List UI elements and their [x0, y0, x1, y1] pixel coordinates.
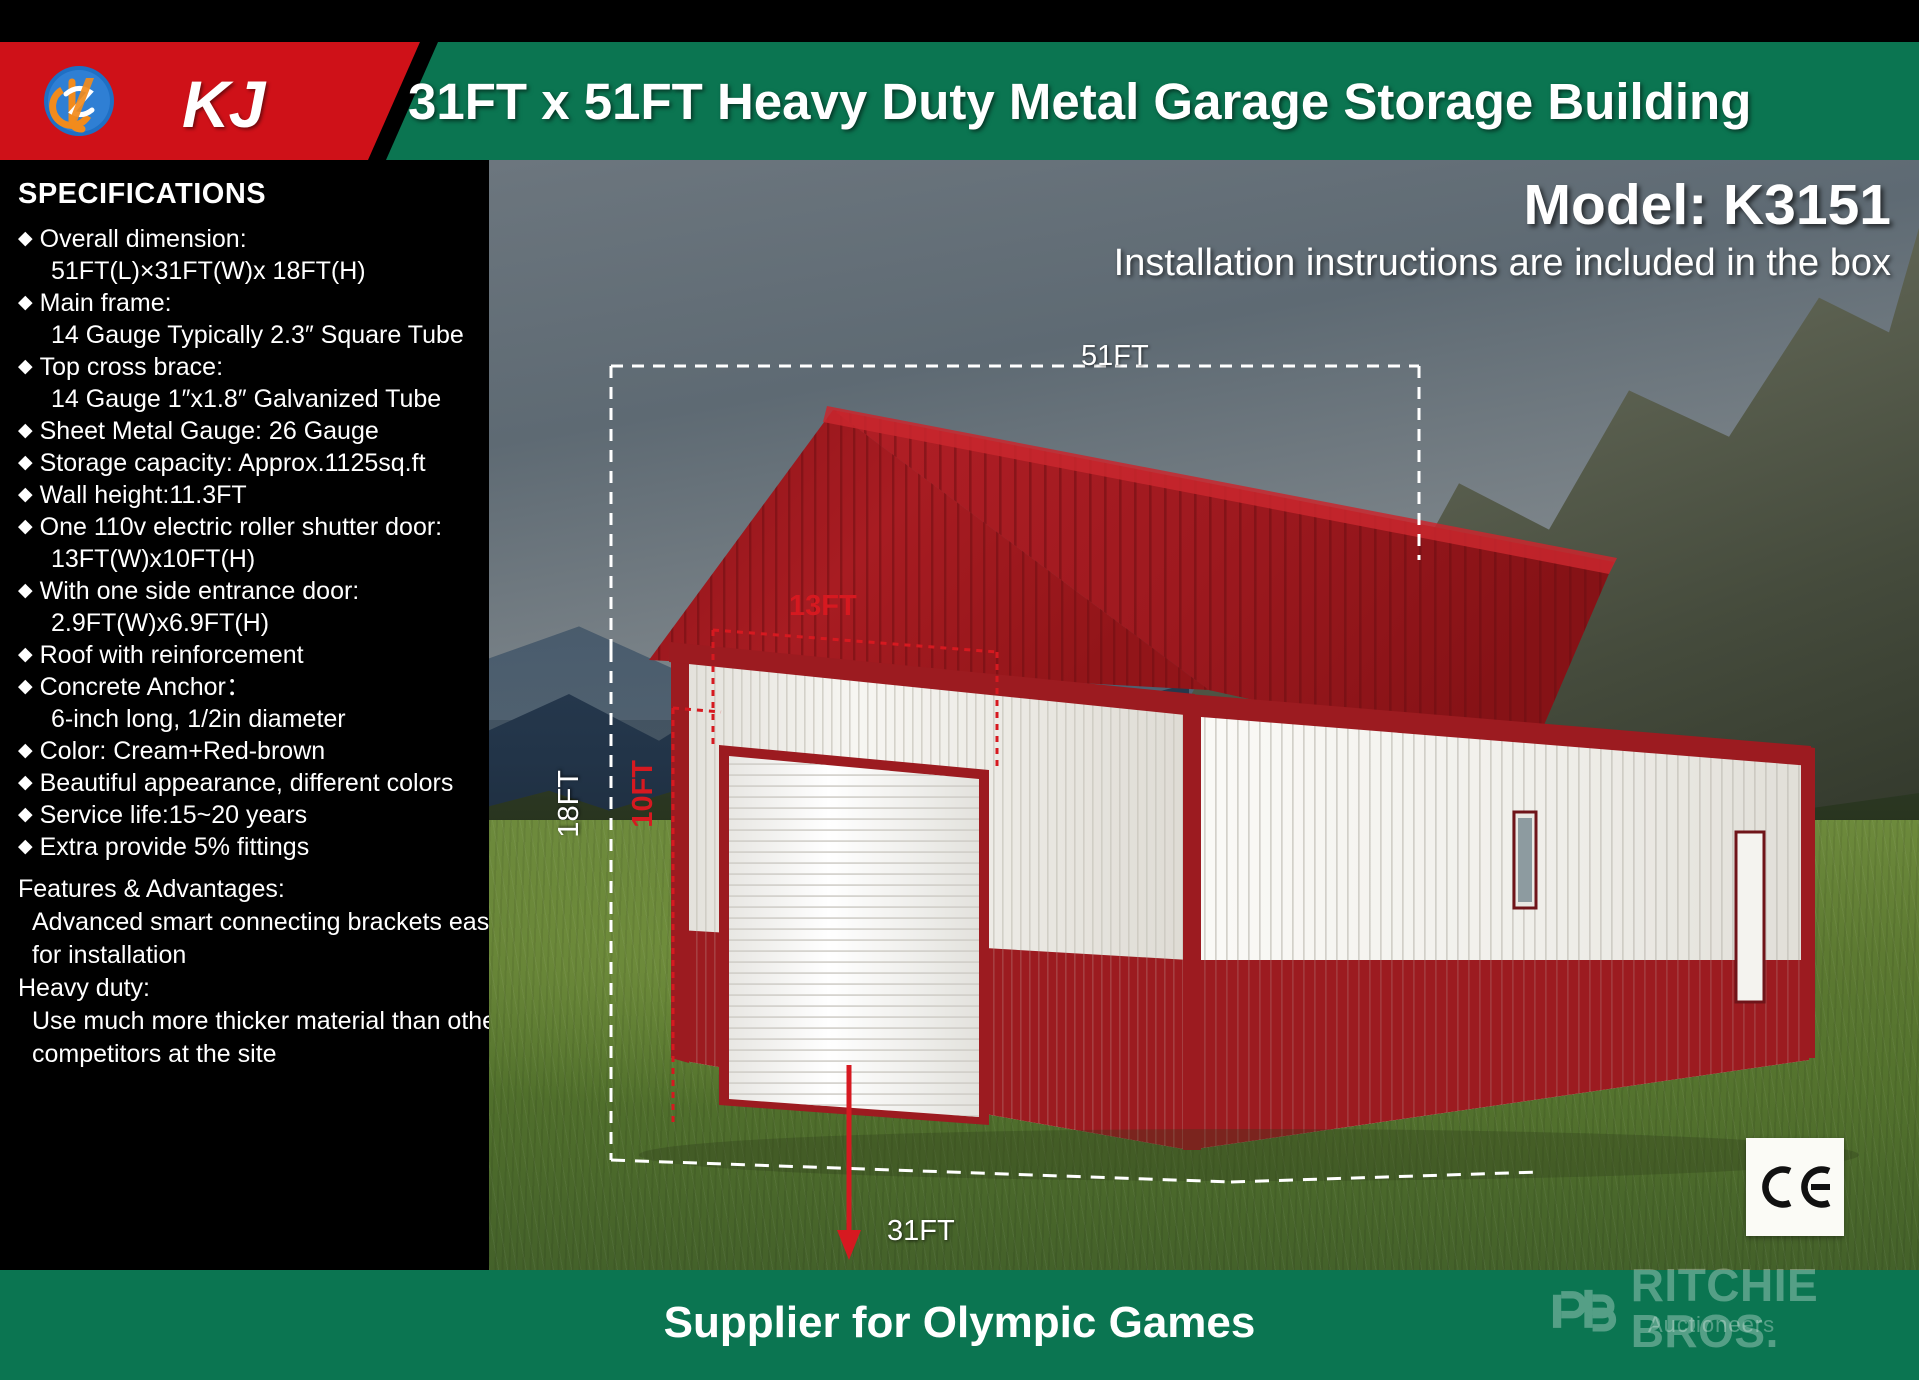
spec-item-label: Color: Cream+Red-brown [40, 736, 326, 766]
spec-item-label: Roof with reinforcement [40, 640, 304, 670]
diamond-bullet-icon: ◆ [18, 288, 33, 318]
specifications-list: ◆Overall dimension:51FT(L)×31FT(W)x 18FT… [18, 224, 489, 862]
spec-item: ◆Main frame: [18, 288, 489, 318]
diamond-bullet-icon: ◆ [18, 800, 33, 830]
spec-item-label: Beautiful appearance, different colors [40, 768, 454, 798]
diamond-bullet-icon: ◆ [18, 416, 33, 446]
spec-item: ◆Service life:15~20 years [18, 800, 489, 830]
diamond-bullet-icon: ◆ [18, 448, 33, 478]
features-line-1a: Advanced smart connecting brackets easy [18, 906, 489, 939]
footer-bar: Supplier for Olympic Games [0, 1270, 1919, 1380]
model-label: Model: K3151 [1524, 172, 1891, 238]
spec-item-label: Concrete Anchor： [40, 672, 251, 702]
spec-item-label: Main frame: [40, 288, 172, 318]
specifications-heading: SPECIFICATIONS [18, 178, 489, 211]
diamond-bullet-icon: ◆ [18, 576, 33, 606]
diamond-bullet-icon: ◆ [18, 768, 33, 798]
brand-name: KJ [182, 66, 264, 142]
ce-icon [1757, 1164, 1833, 1210]
spec-item-label: Overall dimension: [40, 224, 247, 254]
spec-item-label: Sheet Metal Gauge: 26 Gauge [40, 416, 379, 446]
spec-item-label: Top cross brace: [40, 352, 223, 382]
spec-item-label: Storage capacity: Approx.1125sq.ft [40, 448, 426, 478]
spec-item-label: One 110v electric roller shutter door: [40, 512, 443, 542]
spec-item: ◆Top cross brace: [18, 352, 489, 382]
features-advantages-block: Features & Advantages: Advanced smart co… [18, 873, 489, 1071]
spec-item-detail: 51FT(L)×31FT(W)x 18FT(H) [18, 256, 489, 286]
spec-item: ◆Roof with reinforcement [18, 640, 489, 670]
spec-item: ◆Concrete Anchor： [18, 672, 489, 702]
spec-item-detail: 14 Gauge Typically 2.3″ Square Tube [18, 320, 489, 350]
spec-item: ◆Storage capacity: Approx.1125sq.ft [18, 448, 489, 478]
features-line-1b: for installation [18, 939, 489, 972]
dimension-door-height-label: 10FT [627, 760, 660, 828]
spec-item-detail: 2.9FT(W)x6.9FT(H) [18, 608, 489, 638]
diamond-bullet-icon: ◆ [18, 672, 33, 702]
diamond-bullet-icon: ◆ [18, 640, 33, 670]
diamond-bullet-icon: ◆ [18, 736, 33, 766]
spec-item: ◆Sheet Metal Gauge: 26 Gauge [18, 416, 489, 446]
spec-item: ◆Beautiful appearance, different colors [18, 768, 489, 798]
features-heading: Features & Advantages: [18, 873, 489, 906]
dimension-door-width-label: 13FT [789, 590, 857, 623]
spec-item-label: With one side entrance door: [40, 576, 360, 606]
top-black-strip [0, 0, 1919, 42]
spec-item-label: Wall height:11.3FT [40, 480, 247, 510]
spec-item-detail: 6-inch long, 1/2in diameter [18, 704, 489, 734]
diamond-bullet-icon: ◆ [18, 832, 33, 862]
installation-note: Installation instructions are included i… [1114, 242, 1891, 285]
spec-item: ◆Overall dimension: [18, 224, 489, 254]
product-advertisement-page: KJ 31FT x 51FT Heavy Duty Metal Garage S… [0, 0, 1919, 1380]
spec-item-detail: 13FT(W)x10FT(H) [18, 544, 489, 574]
kj-circular-logo-icon [42, 64, 116, 138]
dimension-guides [489, 160, 1919, 1270]
spec-item: ◆Color: Cream+Red-brown [18, 736, 489, 766]
spec-item: ◆Wall height:11.3FT [18, 480, 489, 510]
header-bar: KJ 31FT x 51FT Heavy Duty Metal Garage S… [0, 42, 1919, 160]
specifications-panel: SPECIFICATIONS ◆Overall dimension:51FT(L… [0, 160, 489, 1270]
diamond-bullet-icon: ◆ [18, 512, 33, 542]
diamond-bullet-icon: ◆ [18, 224, 33, 254]
page-title: 31FT x 51FT Heavy Duty Metal Garage Stor… [408, 72, 1751, 131]
dimension-height-label: 18FT [553, 770, 586, 838]
spec-item-detail: 14 Gauge 1″x1.8″ Galvanized Tube [18, 384, 489, 414]
spec-item: ◆One 110v electric roller shutter door: [18, 512, 489, 542]
diamond-bullet-icon: ◆ [18, 480, 33, 510]
diamond-bullet-icon: ◆ [18, 352, 33, 382]
product-photo: Model: K3151 Installation instructions a… [489, 160, 1919, 1270]
footer-tagline: Supplier for Olympic Games [664, 1298, 1256, 1348]
spec-item: ◆With one side entrance door: [18, 576, 489, 606]
ce-mark-badge [1746, 1138, 1844, 1236]
spec-item: ◆Extra provide 5% fittings [18, 832, 489, 862]
dimension-length-label: 51FT [1081, 340, 1149, 373]
spec-item-label: Service life:15~20 years [40, 800, 308, 830]
watermark-sub: Auctioneers [1648, 1312, 1775, 1338]
dimension-width-label: 31FT [887, 1215, 955, 1248]
heavy-duty-line-2a: Use much more thicker material than othe… [18, 1005, 489, 1038]
spec-item-label: Extra provide 5% fittings [40, 832, 310, 862]
heavy-duty-heading: Heavy duty: [18, 972, 489, 1005]
heavy-duty-line-2b: competitors at the site [18, 1038, 489, 1071]
